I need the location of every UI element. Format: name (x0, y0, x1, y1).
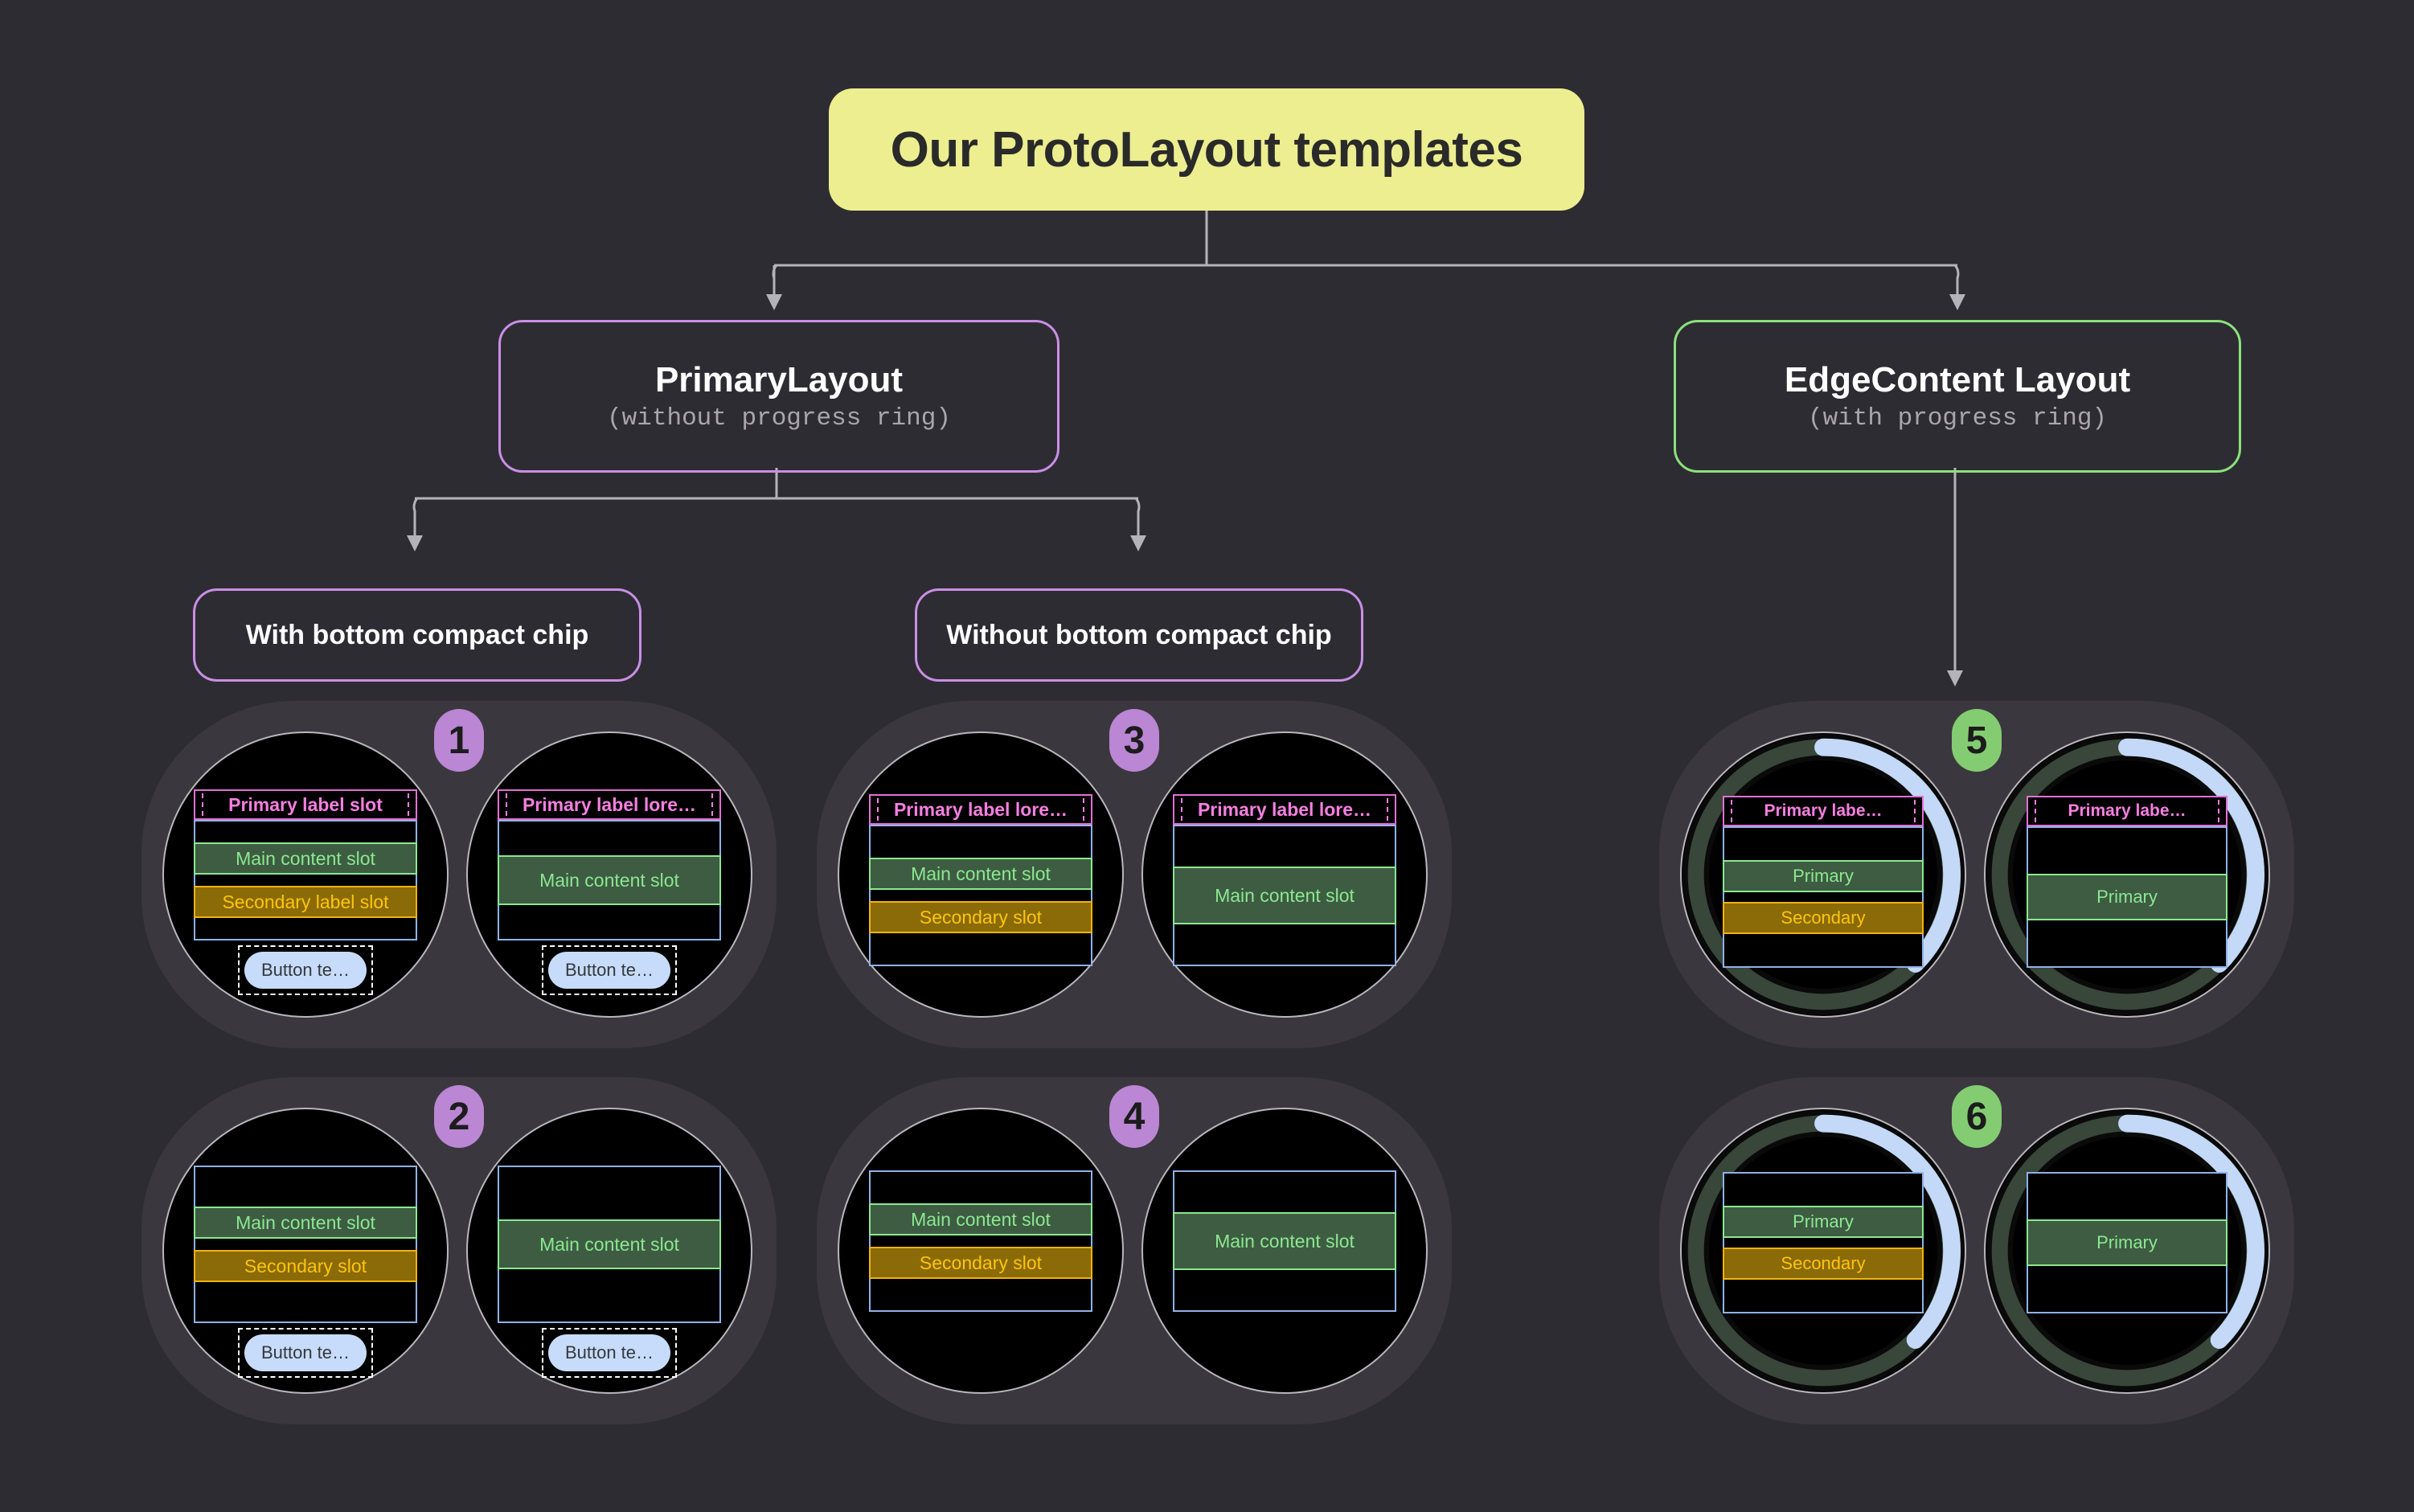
slot-main-content: Main content slot (1173, 867, 1396, 924)
compact-chip-button[interactable]: Button te… (244, 952, 367, 989)
slot-main-content: Main content slot (869, 1203, 1092, 1235)
content-bounds-outline (869, 825, 1092, 966)
sub-branch-with-chip-label: With bottom compact chip (246, 620, 589, 650)
branch-primary-layout[interactable]: PrimaryLayout (without progress ring) (498, 320, 1059, 473)
slot-secondary: Secondary (1723, 902, 1924, 934)
group-badge-2: 2 (434, 1085, 484, 1148)
slot-primary-label: Primary label lore… (498, 789, 721, 820)
watch-preview-3-1: Primary label lore…Main content slotSeco… (838, 731, 1124, 1018)
branch-edge-content-layout[interactable]: EdgeContent Layout (with progress ring) (1674, 320, 2241, 473)
slot-main-content: Primary (2027, 1219, 2228, 1266)
slot-primary-label: Primary labe… (1723, 796, 1924, 826)
branch-edge-subtitle: (with progress ring) (1808, 404, 2107, 432)
branch-edge-title: EdgeContent Layout (1785, 360, 2130, 400)
branch-primary-subtitle: (without progress ring) (607, 404, 951, 432)
compact-chip-button[interactable]: Button te… (548, 1334, 670, 1371)
compact-chip-button[interactable]: Button te… (244, 1334, 367, 1371)
group-badge-3: 3 (1109, 709, 1159, 772)
watch-preview-5-2: Primary labe…Primary (1984, 731, 2270, 1018)
slot-secondary: Secondary slot (869, 901, 1092, 933)
slot-primary-label: Primary label slot (194, 789, 417, 820)
slot-main-content: Primary (2027, 874, 2228, 920)
diagram-canvas: Our ProtoLayout templates PrimaryLayout … (0, 0, 2414, 1512)
content-bounds-outline (194, 1166, 417, 1323)
page-title-text: Our ProtoLayout templates (891, 121, 1523, 178)
content-bounds-outline (869, 1170, 1092, 1312)
slot-main-content: Main content slot (1173, 1212, 1396, 1270)
slot-main-content: Main content slot (869, 858, 1092, 890)
content-bounds-outline (194, 820, 417, 940)
slot-secondary: Secondary slot (194, 1250, 417, 1282)
sub-branch-without-bottom-compact-chip[interactable]: Without bottom compact chip (915, 588, 1363, 682)
compact-chip-button[interactable]: Button te… (548, 952, 670, 989)
label-tick-marks (1174, 796, 1395, 823)
watch-preview-1-1: Primary label slotMain content slotSecon… (162, 731, 449, 1018)
watch-preview-5-1: Primary labe…PrimarySecondary (1680, 731, 1966, 1018)
label-tick-marks (871, 796, 1091, 823)
slot-main-content: Primary (1723, 1206, 1924, 1238)
watch-preview-4-1: Main content slotSecondary slot (838, 1108, 1124, 1394)
label-tick-marks (195, 791, 416, 818)
slot-main-content: Main content slot (498, 855, 721, 905)
slot-primary-label: Primary label lore… (869, 794, 1092, 825)
slot-secondary: Secondary label slot (194, 886, 417, 918)
watch-preview-1-2: Primary label lore…Main content slotButt… (466, 731, 752, 1018)
sub-branch-without-chip-label: Without bottom compact chip (946, 620, 1331, 650)
slot-secondary: Secondary (1723, 1248, 1924, 1280)
watch-preview-2-2: Main content slotButton te… (466, 1108, 752, 1394)
group-badge-1: 1 (434, 709, 484, 772)
watch-preview-6-1: PrimarySecondary (1680, 1108, 1966, 1394)
slot-main-content: Main content slot (194, 1207, 417, 1239)
group-badge-6: 6 (1952, 1085, 2002, 1148)
content-bounds-outline (1723, 826, 1924, 968)
page-title: Our ProtoLayout templates (829, 88, 1584, 211)
slot-primary-label: Primary labe… (2027, 796, 2228, 826)
watch-preview-2-1: Main content slotSecondary slotButton te… (162, 1108, 449, 1394)
slot-main-content: Main content slot (498, 1219, 721, 1269)
slot-main-content: Main content slot (194, 842, 417, 875)
content-bounds-outline (1723, 1172, 1924, 1313)
branch-primary-title: PrimaryLayout (655, 360, 903, 400)
slot-main-content: Primary (1723, 860, 1924, 892)
label-tick-marks (1724, 797, 1922, 825)
group-badge-5: 5 (1952, 709, 2002, 772)
slot-secondary: Secondary slot (869, 1247, 1092, 1279)
watch-preview-3-2: Primary label lore…Main content slot (1141, 731, 1428, 1018)
label-tick-marks (499, 791, 719, 818)
group-badge-4: 4 (1109, 1085, 1159, 1148)
sub-branch-with-bottom-compact-chip[interactable]: With bottom compact chip (193, 588, 641, 682)
label-tick-marks (2028, 797, 2226, 825)
watch-preview-4-2: Main content slot (1141, 1108, 1428, 1394)
watch-preview-6-2: Primary (1984, 1108, 2270, 1394)
slot-primary-label: Primary label lore… (1173, 794, 1396, 825)
